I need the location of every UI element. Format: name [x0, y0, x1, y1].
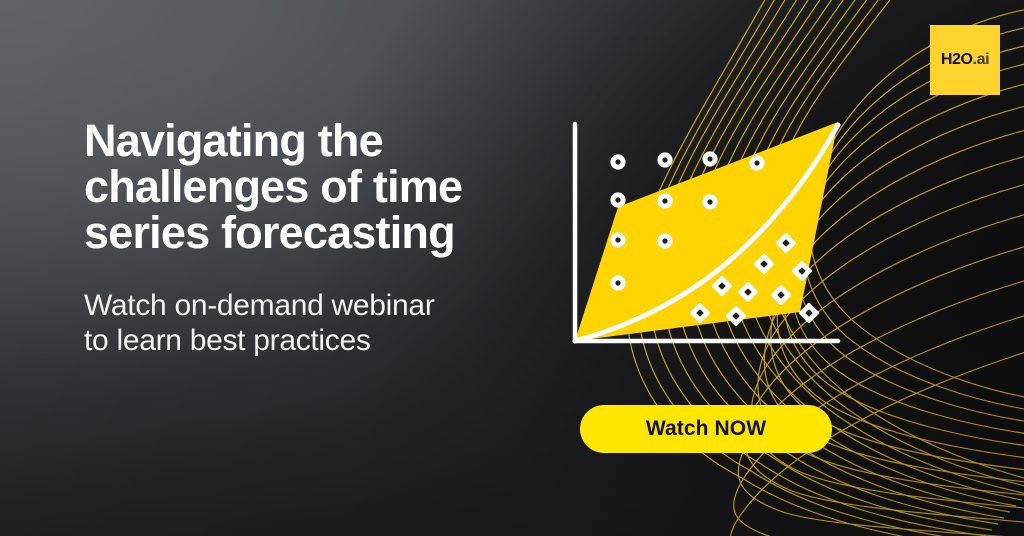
marker-circle: [657, 152, 672, 167]
marker-circle: [610, 232, 625, 247]
marker-circle: [702, 194, 717, 209]
marker-circle: [657, 193, 672, 208]
h2o-ai-logo[interactable]: H2O.ai: [930, 25, 1000, 95]
watch-now-button[interactable]: Watch NOW: [580, 405, 832, 453]
marker-diamond: [798, 302, 819, 323]
subtitle: Watch on-demand webinar to learn best pr…: [84, 256, 554, 359]
marker-circle: [749, 155, 764, 170]
page-title: Navigating the challenges of time series…: [84, 118, 554, 256]
marker-circle: [657, 233, 672, 248]
time-series-forecast-chart: [555, 105, 865, 365]
marker-circle: [702, 151, 717, 166]
marker-circle: [610, 192, 625, 207]
webinar-promo-banner: Navigating the challenges of time series…: [0, 0, 1024, 536]
marker-circle: [610, 275, 625, 290]
copy-block: Navigating the challenges of time series…: [84, 118, 554, 358]
logo-text: H2O.ai: [941, 52, 989, 68]
logo-main: H2O: [941, 51, 973, 68]
logo-suffix: .ai: [973, 51, 990, 68]
marker-circle: [610, 154, 625, 169]
